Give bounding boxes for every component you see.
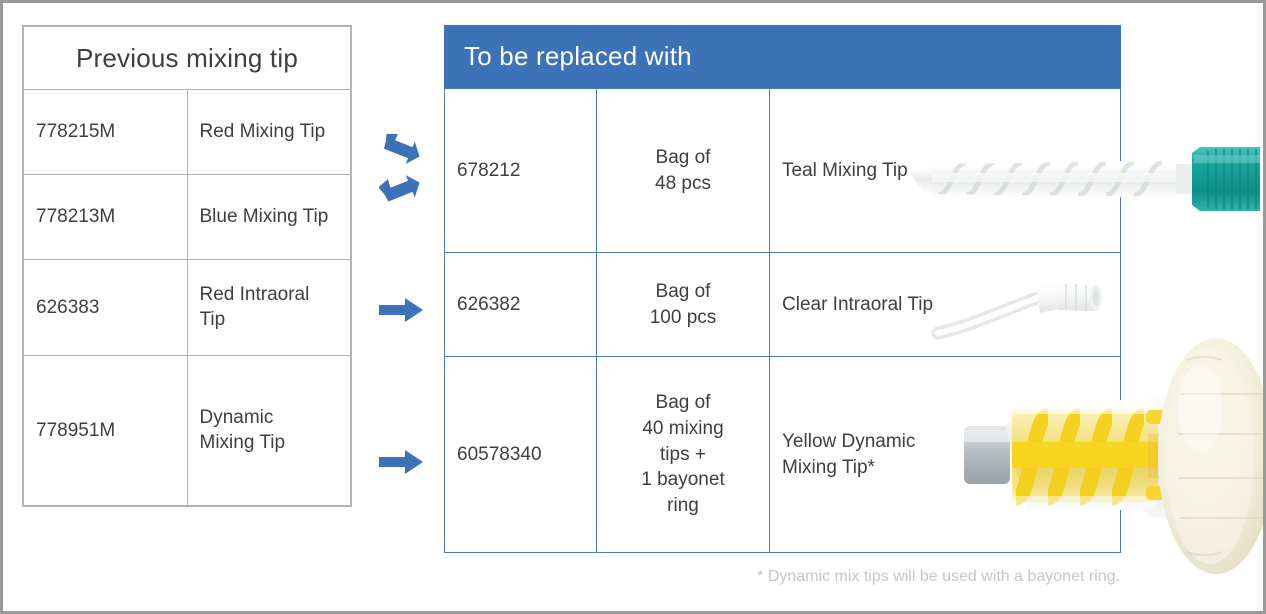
replacement-name-2: Yellow DynamicMixing Tip* [770, 357, 1121, 553]
previous-mixing-tip-header: Previous mixing tip [24, 27, 351, 90]
replacement-table-wrapper: To be replaced with 678212 Bag of48 pcs … [444, 25, 1121, 553]
table-row: 778215M Red Mixing Tip [24, 90, 351, 175]
replacement-qty-0: Bag of48 pcs [597, 89, 770, 253]
table-row: 626383 Red Intraoral Tip [24, 260, 351, 356]
previous-name-0: Red Mixing Tip [187, 90, 351, 175]
arrow-red-mixing-to-teal [379, 134, 423, 164]
infographic-page: Previous mixing tip 778215M Red Mixing T… [0, 0, 1266, 614]
table-row: 678212 Bag of48 pcs Teal Mixing Tip [445, 89, 1121, 253]
replacement-code-2: 60578340 [445, 357, 597, 553]
table-row: 626382 Bag of100 pcs Clear Intraoral Tip [445, 253, 1121, 357]
previous-name-3: DynamicMixing Tip [187, 356, 351, 506]
previous-code-3: 778951M [24, 356, 188, 506]
arrow-blue-mixing-to-teal [379, 175, 423, 205]
replacement-qty-1: Bag of100 pcs [597, 253, 770, 357]
replacement-name-1: Clear Intraoral Tip [770, 253, 1121, 357]
to-be-replaced-with-banner: To be replaced with [444, 25, 1121, 88]
table-header-row: Previous mixing tip [24, 27, 351, 90]
replacement-name-0: Teal Mixing Tip [770, 89, 1121, 253]
previous-code-2: 626383 [24, 260, 188, 356]
previous-name-1: Blue Mixing Tip [187, 175, 351, 260]
footnote-text: * Dynamic mix tips will be used with a b… [757, 568, 1120, 586]
previous-mixing-tip-table: Previous mixing tip 778215M Red Mixing T… [22, 25, 352, 507]
replacement-qty-2: Bag of40 mixingtips +1 bayonetring [597, 357, 770, 553]
table-row: 778213M Blue Mixing Tip [24, 175, 351, 260]
previous-code-0: 778215M [24, 90, 188, 175]
arrow-intraoral-to-clear [379, 295, 423, 325]
arrow-dynamic-to-yellow [379, 447, 423, 477]
table-row: 778951M DynamicMixing Tip [24, 356, 351, 506]
replacement-code-1: 626382 [445, 253, 597, 357]
previous-code-1: 778213M [24, 175, 188, 260]
previous-name-2: Red Intraoral Tip [187, 260, 351, 356]
replacement-table: 678212 Bag of48 pcs Teal Mixing Tip 6263… [444, 88, 1121, 553]
replacement-code-0: 678212 [445, 89, 597, 253]
table-row: 60578340 Bag of40 mixingtips +1 bayonetr… [445, 357, 1121, 553]
